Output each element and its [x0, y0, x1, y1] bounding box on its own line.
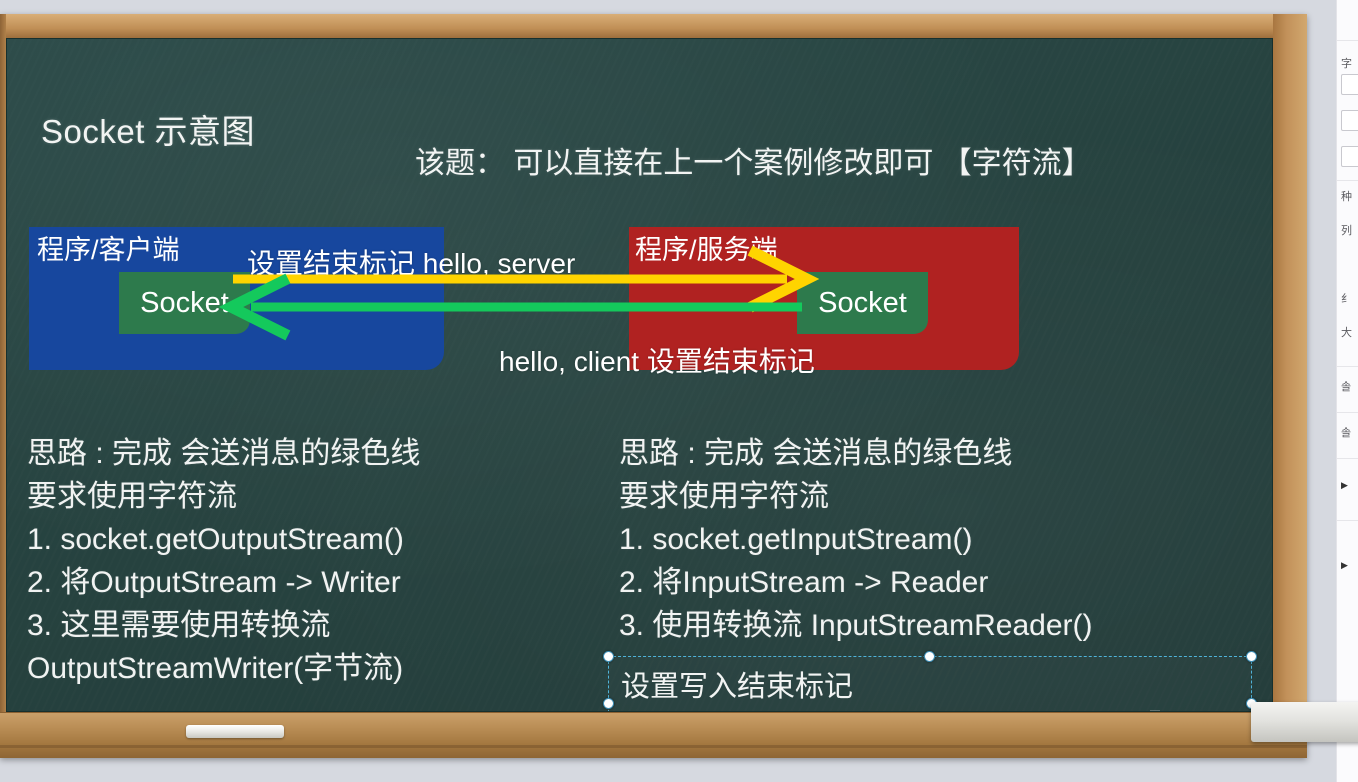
panel-label-7: 솔 [1341, 424, 1351, 440]
note-left-line-6: OutputStreamWriter(字节流) [27, 647, 420, 690]
resize-handle-top-center[interactable] [924, 651, 935, 662]
resize-handle-top-left[interactable] [603, 651, 614, 662]
note-right-line-1: 思路 : 完成 会送消息的绿色线 [619, 432, 1092, 475]
panel-divider-6 [1337, 520, 1358, 521]
note-right-line-4: 2. 将InputStream -> Reader [619, 561, 1092, 604]
chalkboard-surface[interactable]: Socket 示意图 该题： 可以直接在上一个案例修改即可 【字符流】 程序/客… [6, 38, 1273, 712]
panel-divider-4 [1337, 412, 1358, 413]
note-left-line-4: 2. 将OutputStream -> Writer [27, 561, 420, 604]
note-left-block: 思路 : 完成 会送消息的绿色线 要求使用字符流 1. socket.getOu… [27, 432, 420, 690]
panel-label-3: 列 [1341, 222, 1352, 238]
panel-label-4: 纟 [1341, 290, 1352, 306]
server-socket-chip: Socket [797, 272, 928, 334]
screen: 字 种 列 纟 大 솔 솔 ▶ ▶ Socket 示意图 该题： 可以直接在上一… [0, 0, 1358, 782]
note-right-line-3: 1. socket.getInputStream() [619, 518, 1092, 561]
chalk-eraser [1251, 702, 1358, 742]
note-left-line-2: 要求使用字符流 [27, 475, 420, 518]
frame-top-edge [0, 14, 1307, 38]
flow-label-to-client: hello, client 设置结束标记 [499, 340, 815, 380]
note-left-line-1: 思路 : 完成 会送消息的绿色线 [27, 432, 420, 475]
panel-label-1: 字 [1341, 55, 1352, 71]
panel-divider-2 [1337, 180, 1358, 181]
frame-right-edge [1273, 14, 1307, 758]
chalkboard-frame: Socket 示意图 该题： 可以直接在上一个案例修改即可 【字符流】 程序/客… [0, 14, 1307, 758]
resize-handle-middle-left[interactable] [603, 698, 614, 709]
note-left-line-5: 3. 这里需要使用转换流 [27, 604, 420, 647]
flow-label-to-server: 设置结束标记 hello, server [247, 242, 575, 282]
note-right-block: 思路 : 完成 会送消息的绿色线 要求使用字符流 1. socket.getIn… [619, 432, 1092, 647]
right-side-panel[interactable]: 字 种 列 纟 大 솔 솔 ▶ ▶ [1336, 0, 1358, 782]
panel-label-6: 솔 [1341, 378, 1351, 394]
note-right-line-5: 3. 使用转换流 InputStreamReader() [619, 604, 1092, 647]
panel-input-1[interactable] [1341, 74, 1358, 95]
server-socket-label: Socket [818, 287, 907, 320]
note-left-line-3: 1. socket.getOutputStream() [27, 518, 420, 561]
panel-divider-5 [1337, 458, 1358, 459]
client-socket-label: Socket [140, 287, 229, 320]
resize-handle-top-right[interactable] [1246, 651, 1257, 662]
server-box-label: 程序/服务端 [635, 228, 778, 267]
selected-textbox-line-2: writer.newLine()，注意需要使用readLine() [619, 705, 1159, 712]
panel-label-2: 种 [1341, 188, 1352, 204]
panel-divider-3 [1337, 366, 1358, 367]
client-socket-chip: Socket [119, 272, 250, 334]
panel-input-2[interactable] [1341, 110, 1358, 131]
panel-input-3[interactable] [1341, 146, 1358, 167]
chalk-stick [186, 725, 284, 738]
chalkboard-ledge [0, 712, 1307, 758]
note-right-line-2: 要求使用字符流 [619, 475, 1092, 518]
selected-textbox[interactable]: 设置写入结束标记 writer.newLine()，注意需要使用readLine… [608, 656, 1252, 712]
panel-divider [1337, 40, 1358, 41]
panel-label-5: 大 [1341, 324, 1352, 340]
expand-arrow-icon-2[interactable]: ▶ [1341, 560, 1348, 571]
client-box-label: 程序/客户端 [37, 228, 180, 267]
expand-arrow-icon-1[interactable]: ▶ [1341, 480, 1348, 491]
selected-textbox-line-1: 设置写入结束标记 [621, 663, 853, 705]
